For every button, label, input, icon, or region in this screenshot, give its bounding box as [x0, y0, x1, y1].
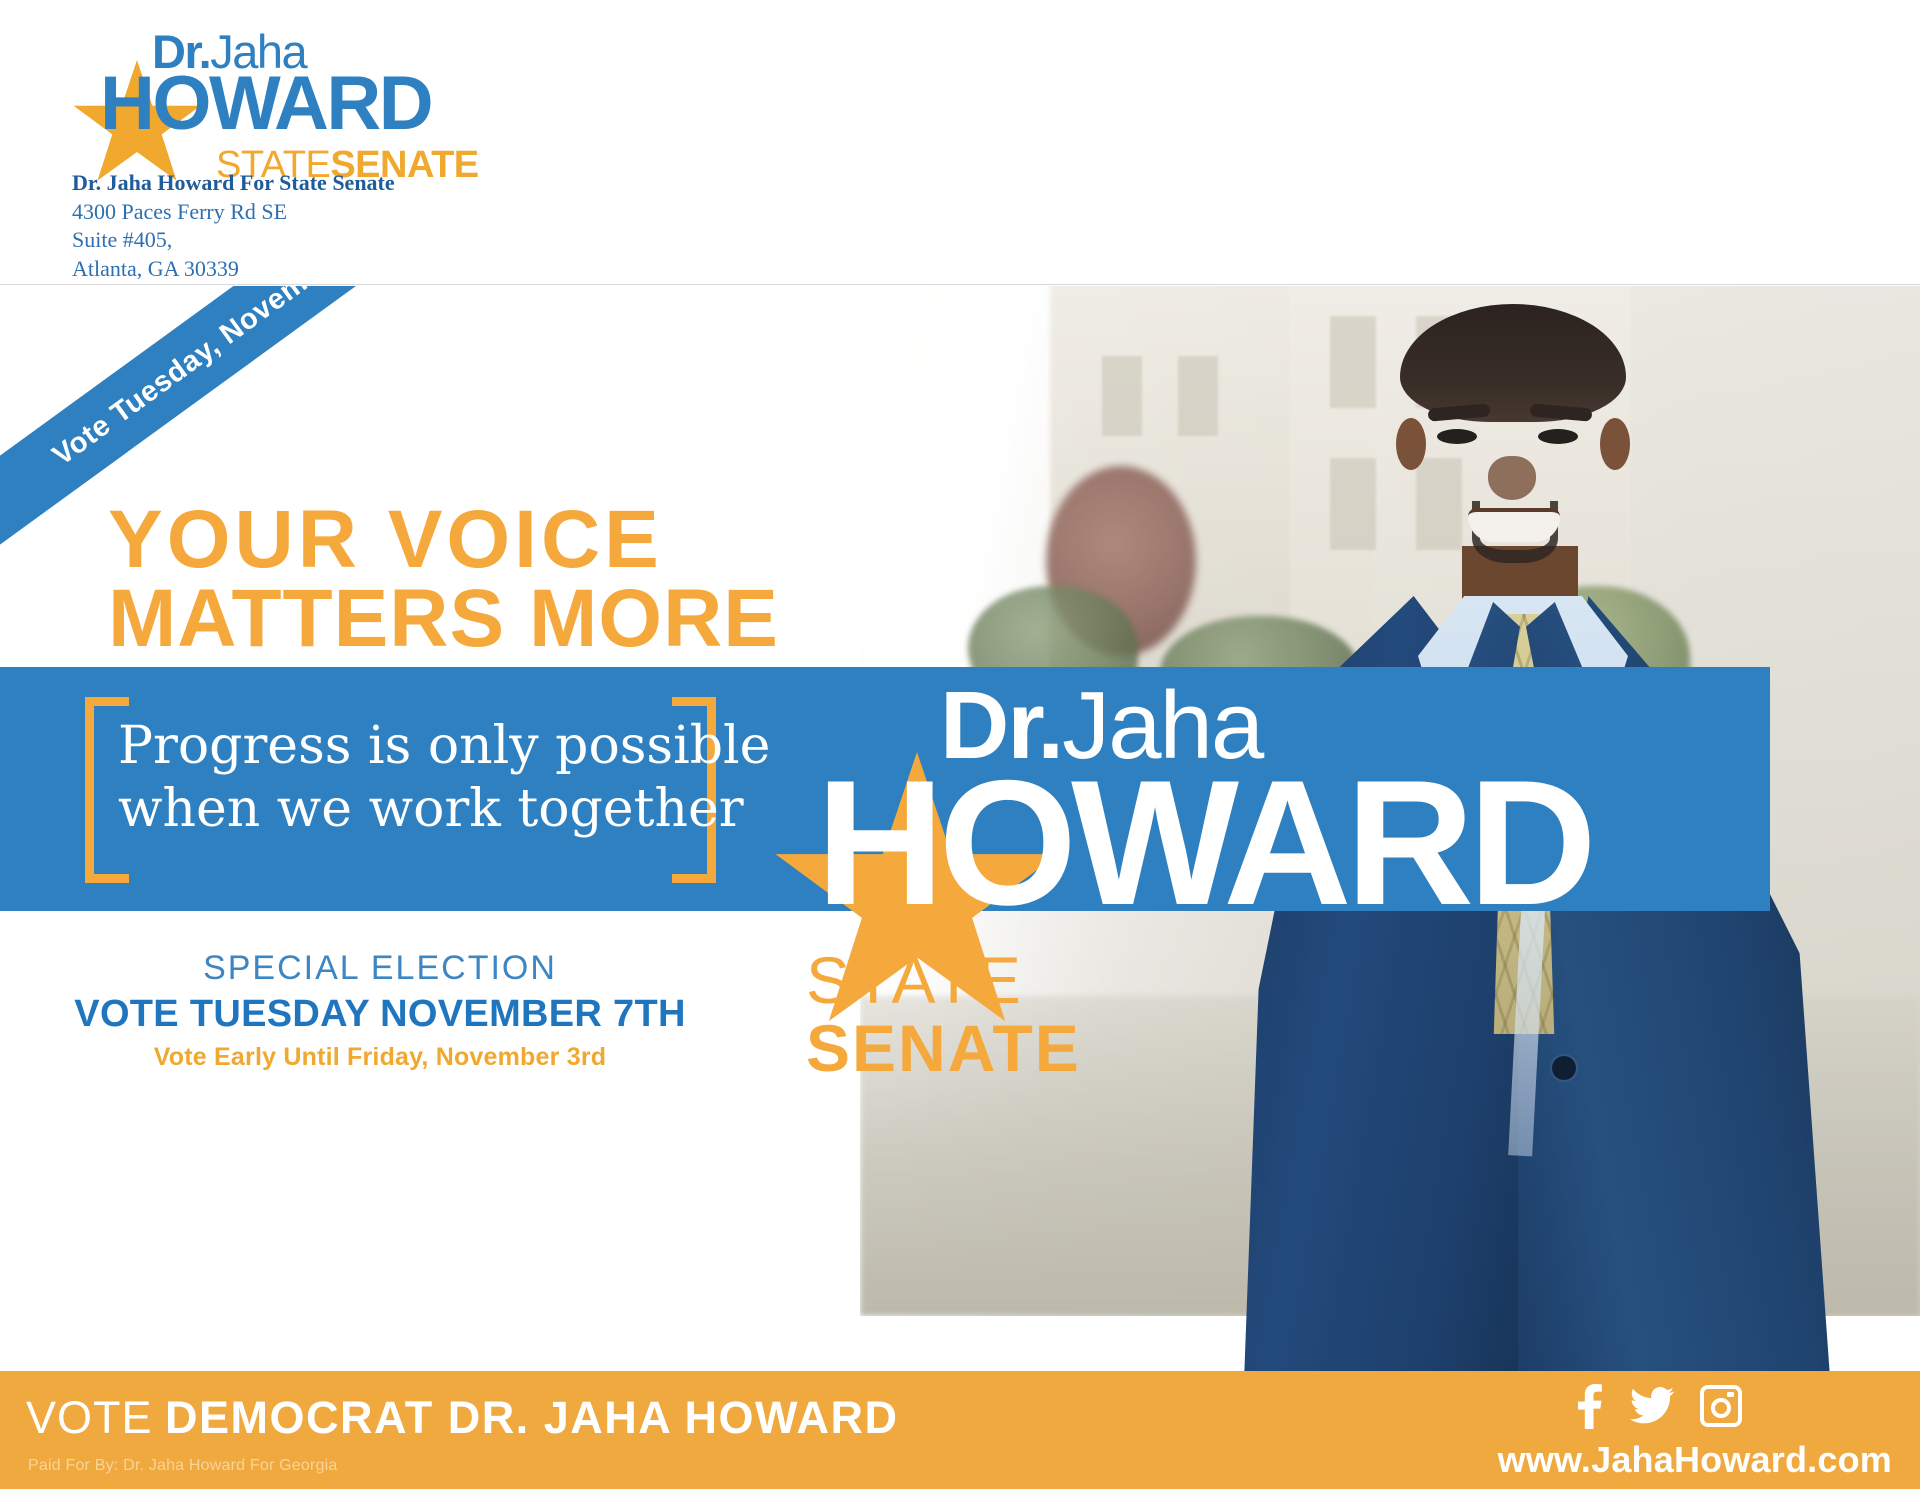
lockup-state: STATE: [806, 944, 1024, 1018]
footer-vote-word: VOTE: [26, 1392, 153, 1443]
twitter-icon[interactable]: [1630, 1383, 1674, 1429]
facebook-icon[interactable]: [1574, 1383, 1604, 1429]
address-line-3: Atlanta, GA 30339: [72, 255, 395, 284]
quote-line-1: Progress is only possible: [118, 715, 708, 778]
instagram-icon[interactable]: [1700, 1385, 1742, 1427]
election-type: SPECIAL ELECTION: [0, 946, 760, 990]
election-date: VOTE TUESDAY NOVEMBER 7TH: [0, 990, 760, 1039]
headline: YOUR VOICE MATTERS MORE: [108, 501, 779, 658]
headline-line-1: YOUR VOICE: [108, 501, 779, 580]
address-name: Dr. Jaha Howard For State Senate: [72, 168, 395, 198]
footer-call-to-action: VOTE DEMOCRAT DR. JAHA HOWARD: [26, 1395, 899, 1440]
social-links: [1574, 1383, 1742, 1429]
quote-line-2: when we work together: [118, 778, 708, 841]
campaign-quote: Progress is only possible when we work t…: [118, 715, 708, 842]
address-line-1: 4300 Paces Ferry Rd SE: [72, 198, 395, 227]
name-lockup: Dr.Jaha HOWARD STATE SENATE: [760, 676, 1760, 1216]
paid-for-disclaimer: Paid For By: Dr. Jaha Howard For Georgia: [28, 1457, 337, 1475]
early-voting-note: Vote Early Until Friday, November 3rd: [0, 1039, 760, 1077]
footer-candidate-line: DEMOCRAT DR. JAHA HOWARD: [165, 1392, 898, 1443]
hair: [1400, 304, 1626, 422]
election-details: SPECIAL ELECTION VOTE TUESDAY NOVEMBER 7…: [0, 946, 760, 1076]
smile: [1468, 508, 1560, 542]
headline-line-2: MATTERS MORE: [108, 580, 779, 659]
address-line-2: Suite #405,: [72, 226, 395, 255]
ribbon-label: Vote Tuesday, November 7th: [47, 286, 396, 472]
campaign-logo: Dr.Jaha HOWARD STATESENATE: [72, 28, 472, 168]
building-window: [1102, 356, 1142, 436]
campaign-website[interactable]: www.JahaHoward.com: [1498, 1439, 1892, 1481]
mailer-artwork: Vote Tuesday, November 7th YOUR VOICE MA…: [0, 286, 1920, 1489]
lockup-howard: HOWARD: [816, 754, 1591, 932]
return-address: Dr. Jaha Howard For State Senate 4300 Pa…: [72, 168, 395, 283]
footer-bar: VOTE DEMOCRAT DR. JAHA HOWARD Paid For B…: [0, 1371, 1920, 1489]
logo-howard: HOWARD: [100, 66, 431, 142]
campaign-mailer: Dr.Jaha HOWARD STATESENATE Dr. Jaha Howa…: [0, 0, 1920, 1489]
eye-right: [1538, 429, 1578, 444]
building-window: [1178, 356, 1218, 436]
return-address-panel: Dr.Jaha HOWARD STATESENATE Dr. Jaha Howa…: [0, 0, 1920, 285]
lockup-senate: SENATE: [806, 1012, 1081, 1086]
eye-left: [1437, 429, 1477, 444]
nose: [1488, 456, 1536, 500]
